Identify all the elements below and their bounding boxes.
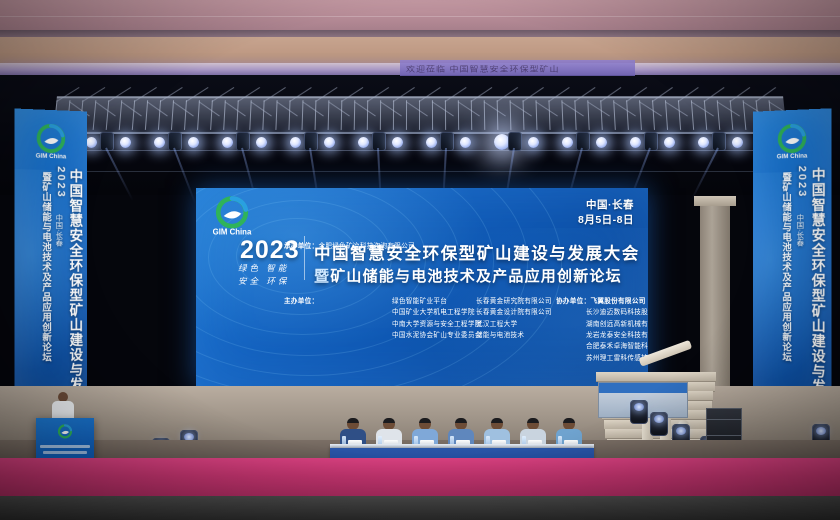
panelist-hair: [419, 418, 431, 423]
organizer-column-2: 长春黄金研究院有限公司长春黄金设计院有限公司武汉工程大学储能与电池技术: [476, 296, 552, 341]
led-strip-text: 欢迎莅临 中国智慧安全环保型矿山: [406, 63, 560, 73]
lighting-truss: [53, 96, 787, 134]
svg-text:GIM China: GIM China: [36, 152, 67, 160]
co-organizer-item: 湖南创远高新机械有限责任公司: [556, 319, 648, 330]
stage-spotlight: [426, 137, 437, 148]
screen-slogan-line1: 绿色 智能: [238, 262, 289, 275]
truss-lattice: [53, 98, 786, 132]
organizer-item: 长春黄金设计院有限公司: [476, 307, 552, 318]
screen-location: 中国·长春: [578, 198, 634, 213]
screen-title-line2-text: 矿山储能与电池技术及产品应用创新论坛: [330, 268, 622, 285]
stage-spotlight: [460, 137, 471, 148]
banner-left-title: 中国智慧安全环保型矿山建设与发展大会: [69, 168, 83, 411]
light-fixture: [440, 132, 454, 151]
banner-right-city: 中国·长春: [795, 214, 806, 247]
stage-spotlight: [528, 137, 539, 148]
podium-title-line-2: [43, 451, 87, 454]
stage-spotlight: [630, 137, 641, 148]
stage-spotlight: [290, 137, 301, 148]
organizer-item: 中国矿业大学机电工程学院: [392, 307, 482, 318]
gim-china-logo-icon: GIM China: [772, 119, 813, 162]
organizer-label-column: 主办单位：: [284, 296, 318, 307]
panelist-hair: [455, 418, 467, 423]
foreground-floor: [0, 496, 840, 520]
screen-dates: 8月5日-8日: [578, 213, 634, 228]
hall-pillar-cap: [694, 196, 736, 206]
ceiling-seam: [0, 16, 840, 17]
banner-right: GIM China 中国智慧安全环保型矿山建设与发展大会 2023 中国·长春 …: [753, 108, 832, 423]
host-value: 合肥绿色矿冶科技咨询有限公司: [318, 243, 415, 250]
stage-spotlight: [324, 137, 335, 148]
gim-china-logo-icon: GIM China: [206, 193, 258, 239]
stage-spotlight: [698, 137, 709, 148]
organizer-item: 武汉工程大学: [476, 319, 552, 330]
pink-carpet: [0, 458, 840, 498]
banner-left-subtitle: 暨矿山储能与电池技术及产品应用创新论坛: [38, 172, 52, 363]
moving-head-light: [650, 412, 668, 436]
stage-spotlight: [120, 137, 131, 148]
stage-spotlight: [154, 137, 165, 148]
overhead-led-strip: 欢迎莅临 中国智慧安全环保型矿山: [400, 60, 635, 76]
banner-left-year: 2023: [55, 166, 67, 199]
stage-spotlight: [562, 137, 573, 148]
organizer-item: 绿色智能矿业平台: [392, 296, 482, 307]
co-organizer-label: 协办单位：飞翼股份有限公司: [556, 296, 648, 307]
panelist-hair: [347, 418, 359, 423]
organizer-item: 中国水泥协会矿山专业委员会: [392, 330, 482, 341]
screen-slogan-line2: 安全 环保: [238, 275, 289, 288]
stage-photograph: 欢迎莅临 中国智慧安全环保型矿山 GIM China 中国智慧安全环保型矿山建设…: [0, 0, 840, 520]
organizer-column-1: 绿色智能矿业平台中国矿业大学机电工程学院中南大学资源与安全工程学院中国水泥协会矿…: [392, 296, 482, 341]
podium-title-line-1: [40, 445, 90, 448]
panelist-hair: [563, 418, 575, 423]
co-organizer-item: 合肥泰禾卓海智能科技有限公司: [556, 341, 648, 352]
stage-spotlight: [358, 137, 369, 148]
screen-host-line: 承办单位：合肥绿色矿冶科技咨询有限公司: [284, 240, 415, 250]
panelist-hair: [527, 418, 539, 423]
gim-china-logo-icon: [54, 423, 77, 443]
light-fixture: [576, 132, 590, 151]
screen-title-line2: 暨矿山储能与电池技术及产品应用创新论坛: [314, 265, 622, 286]
banner-right-year: 2023: [796, 166, 808, 199]
host-label: 承办单位：: [284, 243, 318, 250]
co-organizer-item: 长沙迪迈数码科技股份有限公司: [556, 307, 648, 318]
stage-spotlight: [392, 137, 403, 148]
stage-spotlight: [222, 137, 233, 148]
screen-place-block: 中国·长春 8月5日-8日: [578, 198, 634, 228]
panelist-hair: [491, 418, 503, 423]
organizer-label: 主办单位：: [284, 296, 318, 307]
screen-slogan: 绿色 智能 安全 环保: [238, 262, 289, 288]
hall-pillar: [700, 200, 730, 390]
banner-right-subtitle: 暨矿山储能与电池技术及产品应用创新论坛: [778, 172, 792, 362]
stage-spotlight: [188, 137, 199, 148]
co-organizer-item: 龙岩龙泰安全科技有限公司: [556, 330, 648, 341]
ceiling-soffit: [0, 0, 840, 30]
stage-spotlight: [664, 137, 675, 148]
co-organizer-item: 苏州理工雷科传感技术有限公司: [556, 353, 648, 364]
panelist-hair: [383, 418, 395, 423]
main-led-screen: GIM China 中国·长春 8月5日-8日 2023 绿色 智能 安全 环保…: [196, 188, 648, 386]
svg-text:GIM China: GIM China: [777, 152, 808, 160]
gim-china-logo-icon: GIM China: [30, 119, 71, 162]
organizer-item: 中南大学资源与安全工程学院: [392, 319, 482, 330]
stage-spotlight: [596, 137, 607, 148]
co-organizer-column: 协办单位：飞翼股份有限公司长沙迪迈数码科技股份有限公司湖南创远高新机械有限责任公…: [556, 296, 648, 364]
banner-left-city: 中国·长春: [54, 214, 65, 247]
screen-title-mark: 暨: [314, 268, 330, 285]
organizer-item: 储能与电池技术: [476, 330, 552, 341]
banner-left: GIM China 中国智慧安全环保型矿山建设与发展大会 2023 中国·长春 …: [14, 108, 87, 411]
organizer-item: 长春黄金研究院有限公司: [476, 296, 552, 307]
stage-spotlight: [256, 137, 267, 148]
moving-head-light: [630, 400, 648, 424]
ceiling-groove: [0, 30, 840, 37]
light-fixture: [508, 132, 522, 151]
stage-spotlight: [86, 137, 97, 148]
stage-spotlight: [732, 137, 743, 148]
